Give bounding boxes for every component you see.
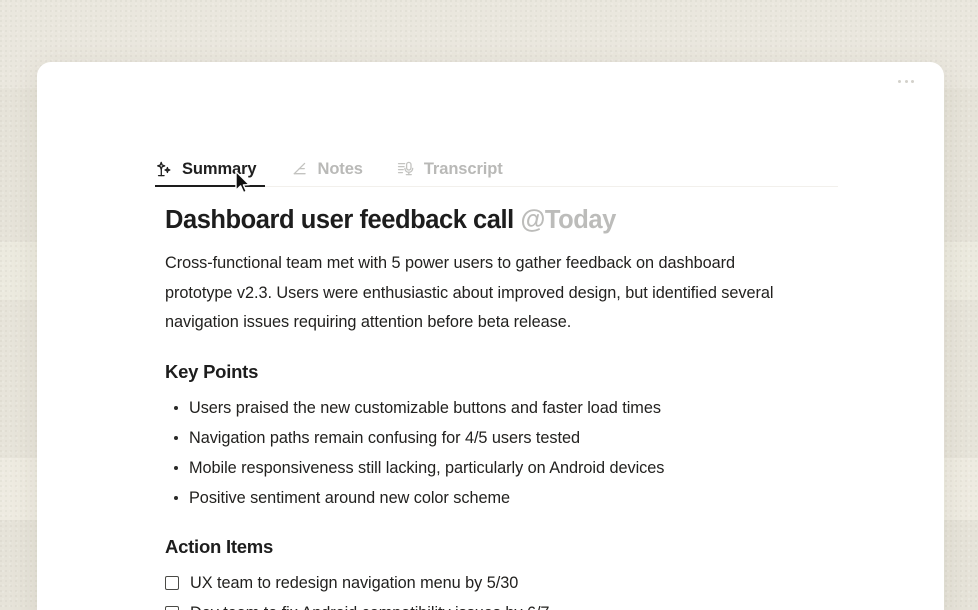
list-item: Mobile responsiveness still lacking, par… <box>165 453 825 483</box>
list-item: Positive sentiment around new color sche… <box>165 483 825 513</box>
task-label: Dev team to fix Android compatibility is… <box>190 598 549 610</box>
section-heading-key-points: Key Points <box>165 361 825 383</box>
tab-notes[interactable]: Notes <box>291 147 375 191</box>
pencil-icon <box>291 160 309 178</box>
action-item-row[interactable]: Dev team to fix Android compatibility is… <box>165 598 825 610</box>
microphone-icon <box>397 160 415 178</box>
tab-summary-label: Summary <box>182 160 257 179</box>
tab-notes-label: Notes <box>318 160 363 179</box>
sparkles-icon <box>155 160 173 178</box>
key-points-list: Users praised the new customizable butto… <box>165 393 825 513</box>
task-checkbox[interactable] <box>165 606 179 610</box>
overflow-menu-button[interactable] <box>894 74 918 89</box>
section-heading-action-items: Action Items <box>165 536 825 558</box>
action-items-list: UX team to redesign navigation menu by 5… <box>165 568 825 610</box>
page-title-text: Dashboard user feedback call <box>165 206 514 234</box>
ellipsis-dot <box>905 80 908 83</box>
summary-paragraph: Cross-functional team met with 5 power u… <box>165 249 795 338</box>
ellipsis-dot <box>911 80 914 83</box>
list-item: Navigation paths remain confusing for 4/… <box>165 423 825 453</box>
date-mention: @Today <box>520 206 615 234</box>
tab-transcript[interactable]: Transcript <box>397 147 515 191</box>
ellipsis-dot <box>898 80 901 83</box>
summary-document: Dashboard user feedback call @Today Cros… <box>165 203 825 610</box>
task-checkbox[interactable] <box>165 576 179 590</box>
action-item-row[interactable]: UX team to redesign navigation menu by 5… <box>165 568 825 598</box>
active-tab-underline <box>155 185 265 187</box>
page-title: Dashboard user feedback call @Today <box>165 203 825 237</box>
list-item: Users praised the new customizable butto… <box>165 393 825 423</box>
task-label: UX team to redesign navigation menu by 5… <box>190 568 518 598</box>
tab-transcript-label: Transcript <box>424 160 503 179</box>
